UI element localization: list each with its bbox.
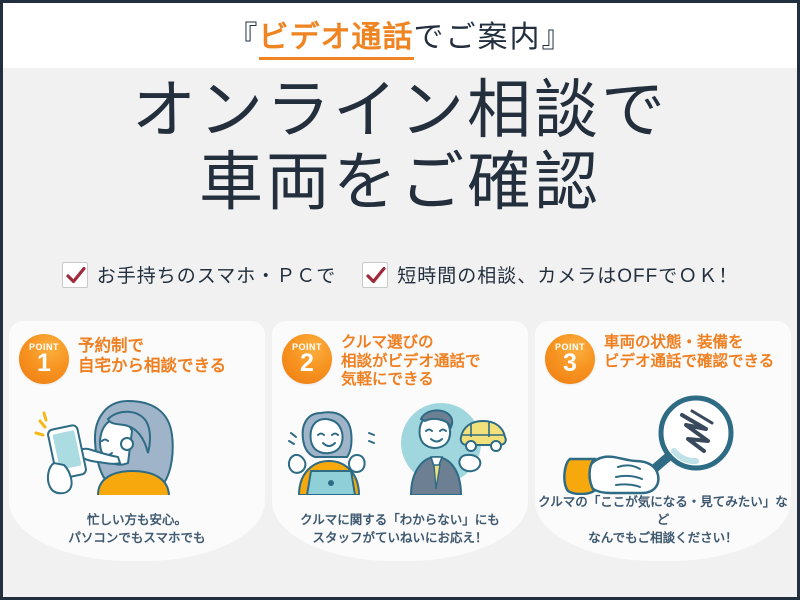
bracket-close: 』 bbox=[542, 12, 573, 56]
caption-line: パソコンでもスマホでも bbox=[9, 529, 265, 547]
header-band: 『 ビデオ通話 でご案内 』 bbox=[3, 3, 797, 68]
page-title: オンライン相談で 車両をご確認 bbox=[3, 75, 797, 218]
point-card-1-head: POINT 1 予約制で 自宅から相談できる bbox=[9, 321, 265, 395]
point-title-line: 予約制で bbox=[78, 336, 226, 356]
point-badge-1: POINT 1 bbox=[19, 334, 69, 384]
check-icon bbox=[362, 262, 388, 288]
point-title-line: 気軽にできる bbox=[341, 371, 481, 390]
title-line-2: 車両をご確認 bbox=[3, 147, 797, 219]
feature-check-row: お手持ちのスマホ・ＰＣで 短時間の相談、カメラはOFFでＯＫ！ bbox=[3, 261, 797, 288]
point-card-3-head: POINT 3 車両の状態・装備を ビデオ通話で確認できる bbox=[535, 321, 791, 395]
title-line-1: オンライン相談で bbox=[3, 75, 797, 147]
hand-holding-magnifier-illustration bbox=[535, 395, 791, 495]
caption-line: なんでもご相談ください！ bbox=[535, 529, 791, 547]
caption-line: 忙しい方も安心。 bbox=[9, 511, 265, 529]
point-badge-number: 1 bbox=[37, 351, 51, 376]
check-item-1: お手持ちのスマホ・ＰＣで bbox=[62, 261, 336, 288]
point-card-3-title: 車両の状態・装備を ビデオ通話で確認できる bbox=[604, 334, 774, 371]
point-badge-2: POINT 2 bbox=[282, 334, 332, 384]
point-card-2-title: クルマ選びの 相談がビデオ通話で 気軽にできる bbox=[341, 334, 481, 390]
point-title-line: 相談がビデオ通話で bbox=[341, 353, 481, 372]
header-rest-text: でご案内 bbox=[414, 12, 542, 56]
woman-with-smartphone-illustration bbox=[9, 395, 265, 495]
point-badge-number: 3 bbox=[563, 351, 577, 376]
point-title-line: ビデオ通話で確認できる bbox=[604, 353, 774, 372]
point-badge-number: 2 bbox=[300, 351, 314, 376]
check-label-1: お手持ちのスマホ・ＰＣで bbox=[97, 261, 336, 288]
check-label-2: 短時間の相談、カメラはOFFでＯＫ！ bbox=[397, 261, 738, 288]
woman-laptop-and-salesman-with-car-illustration bbox=[272, 395, 528, 495]
point-card-2: POINT 2 クルマ選びの 相談がビデオ通話で 気軽にできる bbox=[272, 321, 528, 561]
point-card-3-caption: クルマの「ここが気になる・見てみたい」など なんでもご相談ください！ bbox=[535, 493, 791, 547]
point-card-1: POINT 1 予約制で 自宅から相談できる bbox=[9, 321, 265, 561]
caption-line: クルマの「ここが気になる・見てみたい」など bbox=[535, 493, 791, 529]
header-highlight-text: ビデオ通話 bbox=[259, 12, 414, 60]
header-catchcopy: 『 ビデオ通話 でご案内 』 bbox=[228, 12, 573, 60]
point-cards: POINT 1 予約制で 自宅から相談できる bbox=[3, 321, 797, 566]
point-card-1-title: 予約制で 自宅から相談できる bbox=[78, 334, 226, 377]
point-card-1-caption: 忙しい方も安心。 パソコンでもスマホでも bbox=[9, 511, 265, 547]
check-item-2: 短時間の相談、カメラはOFFでＯＫ！ bbox=[362, 261, 738, 288]
point-card-2-head: POINT 2 クルマ選びの 相談がビデオ通話で 気軽にできる bbox=[272, 321, 528, 395]
caption-line: スタッフがていねいにお応え！ bbox=[272, 529, 528, 547]
check-icon bbox=[62, 262, 88, 288]
caption-line: クルマに関する「わからない」にも bbox=[272, 511, 528, 529]
promo-banner: 『 ビデオ通話 でご案内 』 オンライン相談で 車両をご確認 お手持ちのスマホ・… bbox=[0, 0, 800, 600]
point-badge-3: POINT 3 bbox=[545, 334, 595, 384]
point-title-line: クルマ選びの bbox=[341, 334, 481, 353]
point-card-2-caption: クルマに関する「わからない」にも スタッフがていねいにお応え！ bbox=[272, 511, 528, 547]
point-card-3: POINT 3 車両の状態・装備を ビデオ通話で確認できる bbox=[535, 321, 791, 561]
bracket-open: 『 bbox=[228, 12, 259, 56]
point-title-line: 車両の状態・装備を bbox=[604, 334, 774, 353]
point-title-line: 自宅から相談できる bbox=[78, 356, 226, 376]
